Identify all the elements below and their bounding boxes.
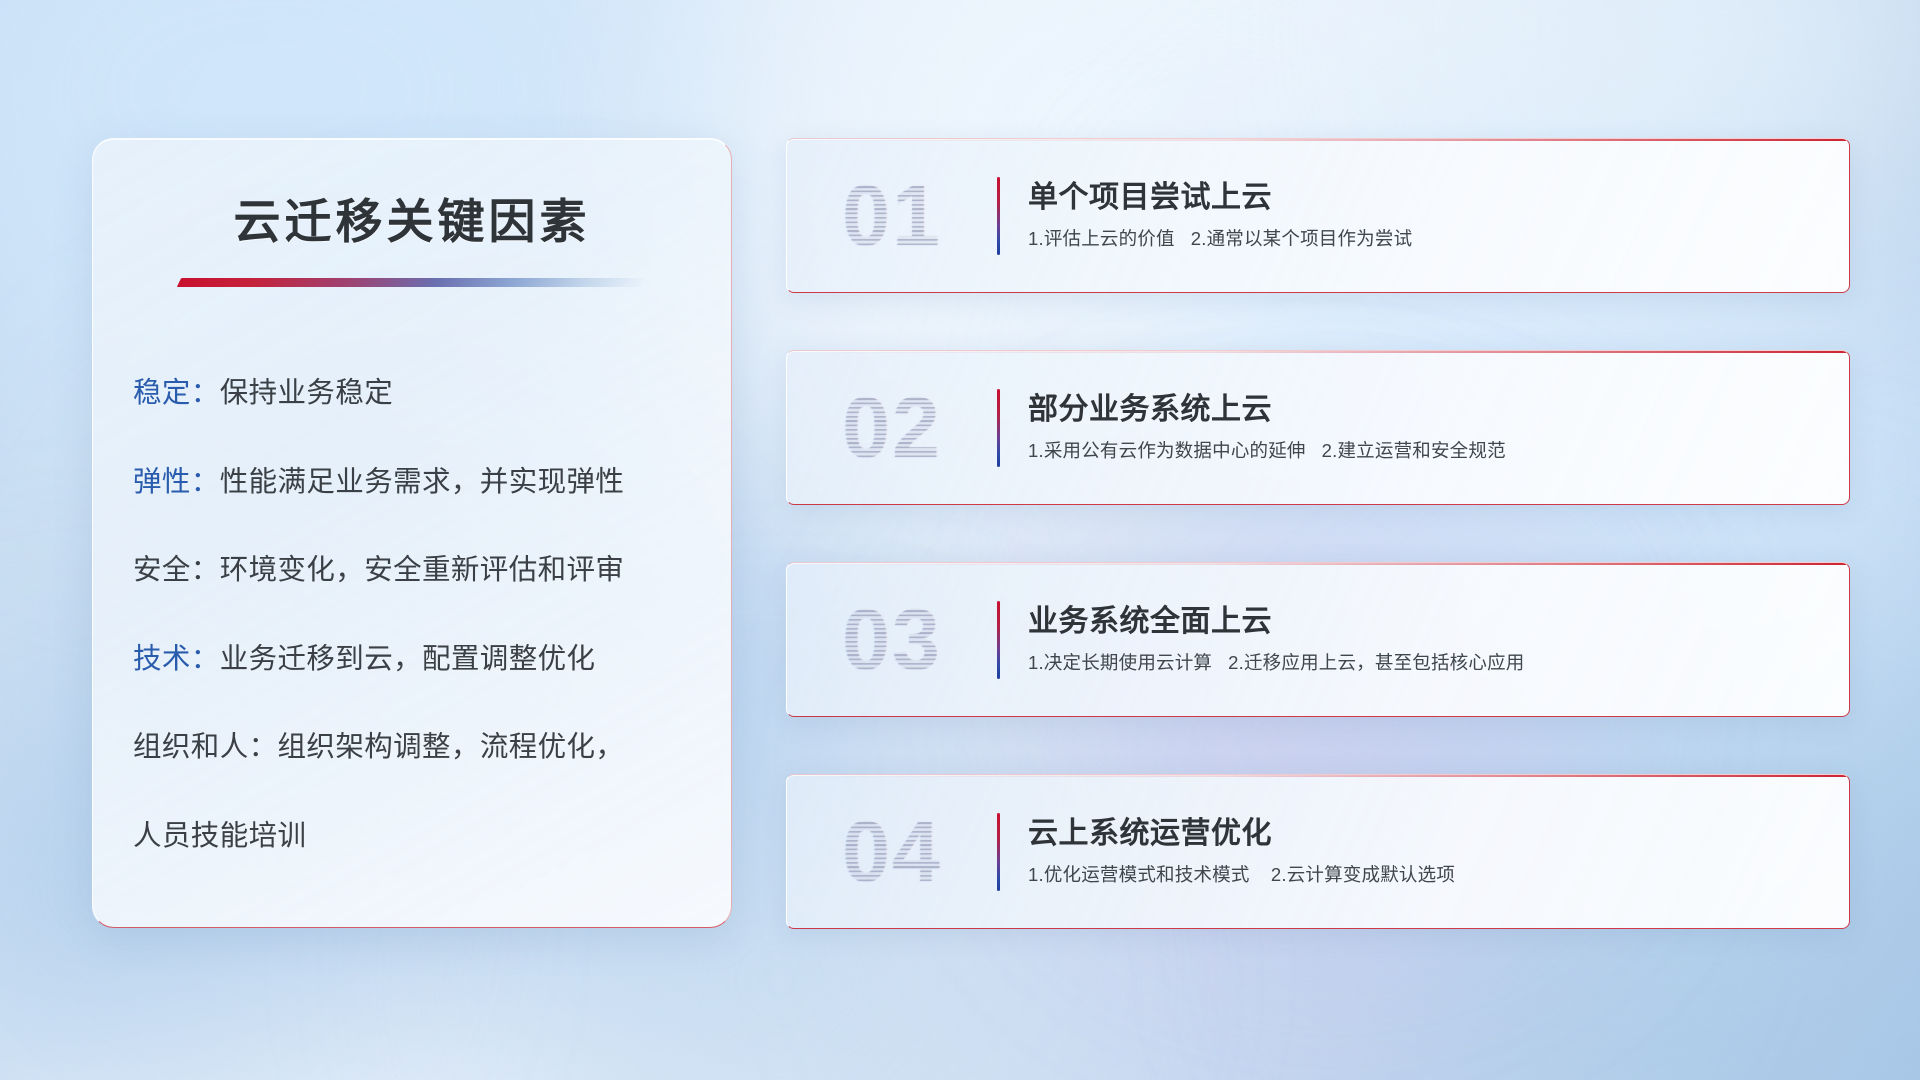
slide-stage: 云迁移关键因素 稳定：保持业务稳定弹性：性能满足业务需求，并实现弹性安全：环境变… — [0, 0, 1920, 1080]
key-factor-row: 安全：环境变化，安全重新评估和评审 — [133, 556, 731, 585]
stage-card-body: 业务系统全面上云1.决定长期使用云计算 2.迁移应用上云，甚至包括核心应用 — [1028, 605, 1849, 675]
stage-card-description: 1.评估上云的价值 2.通常以某个项目作为尝试 — [1028, 228, 1825, 250]
stage-card-body: 部分业务系统上云1.采用公有云作为数据中心的延伸 2.建立运营和安全规范 — [1028, 393, 1849, 463]
stage-divider-bar — [997, 601, 1000, 679]
stage-number: 01 — [842, 173, 942, 259]
stage-card[interactable]: 040404云上系统运营优化1.优化运营模式和技术模式 2.云计算变成默认选项 — [786, 774, 1850, 929]
key-factor-label: 稳定： — [133, 377, 220, 409]
title-underline-accent — [177, 278, 647, 287]
stage-card[interactable]: 020202部分业务系统上云1.采用公有云作为数据中心的延伸 2.建立运营和安全… — [786, 350, 1850, 505]
key-factor-row: 人员技能培训 — [133, 822, 731, 851]
key-factor-row: 弹性：性能满足业务需求，并实现弹性 — [133, 468, 731, 497]
stage-card-body: 单个项目尝试上云1.评估上云的价值 2.通常以某个项目作为尝试 — [1028, 181, 1849, 251]
key-factor-value: 环境变化，安全重新评估和评审 — [220, 554, 625, 586]
stage-divider-bar — [997, 389, 1000, 467]
stage-card-list: 010101单个项目尝试上云1.评估上云的价值 2.通常以某个项目作为尝试020… — [786, 138, 1850, 929]
stage-card-title: 单个项目尝试上云 — [1028, 181, 1825, 216]
key-factor-label: 弹性： — [133, 466, 220, 498]
stage-number-ghost: 040404 — [787, 775, 997, 928]
stage-card-title: 部分业务系统上云 — [1028, 393, 1825, 428]
key-factor-value: 人员技能培训 — [133, 820, 306, 852]
stage-card-title: 业务系统全面上云 — [1028, 605, 1825, 640]
stage-card-body: 云上系统运营优化1.优化运营模式和技术模式 2.云计算变成默认选项 — [1028, 817, 1849, 887]
key-factor-row: 稳定：保持业务稳定 — [133, 379, 731, 408]
key-factors-panel: 云迁移关键因素 稳定：保持业务稳定弹性：性能满足业务需求，并实现弹性安全：环境变… — [92, 138, 732, 928]
key-factor-label: 安全： — [133, 554, 220, 586]
key-factor-label: 组织和人： — [133, 731, 278, 763]
stage-number-ghost: 020202 — [787, 351, 997, 504]
stage-card-description: 1.优化运营模式和技术模式 2.云计算变成默认选项 — [1028, 864, 1825, 886]
stage-card-description: 1.决定长期使用云计算 2.迁移应用上云，甚至包括核心应用 — [1028, 652, 1825, 674]
panel-title: 云迁移关键因素 — [93, 183, 731, 252]
stage-number: 02 — [842, 385, 942, 471]
stage-card[interactable]: 010101单个项目尝试上云1.评估上云的价值 2.通常以某个项目作为尝试 — [786, 138, 1850, 293]
key-factor-row: 组织和人：组织架构调整，流程优化， — [133, 733, 731, 762]
stage-card-title: 云上系统运营优化 — [1028, 817, 1825, 852]
stage-number: 03 — [842, 597, 942, 683]
stage-divider-bar — [997, 177, 1000, 255]
stage-number-ghost: 030303 — [787, 563, 997, 716]
stage-number: 04 — [842, 809, 942, 895]
key-factor-value: 组织架构调整，流程优化， — [278, 731, 625, 763]
stage-card-description: 1.采用公有云作为数据中心的延伸 2.建立运营和安全规范 — [1028, 440, 1825, 462]
key-factor-row: 技术：业务迁移到云，配置调整优化 — [133, 645, 731, 674]
key-factor-value: 业务迁移到云，配置调整优化 — [220, 643, 596, 675]
stage-card[interactable]: 030303业务系统全面上云1.决定长期使用云计算 2.迁移应用上云，甚至包括核… — [786, 562, 1850, 717]
stage-number-ghost: 010101 — [787, 139, 997, 292]
key-factors-list: 稳定：保持业务稳定弹性：性能满足业务需求，并实现弹性安全：环境变化，安全重新评估… — [133, 379, 731, 850]
stage-divider-bar — [997, 813, 1000, 891]
key-factor-label: 技术： — [133, 643, 220, 675]
key-factor-value: 性能满足业务需求，并实现弹性 — [220, 466, 625, 498]
key-factor-value: 保持业务稳定 — [220, 377, 393, 409]
